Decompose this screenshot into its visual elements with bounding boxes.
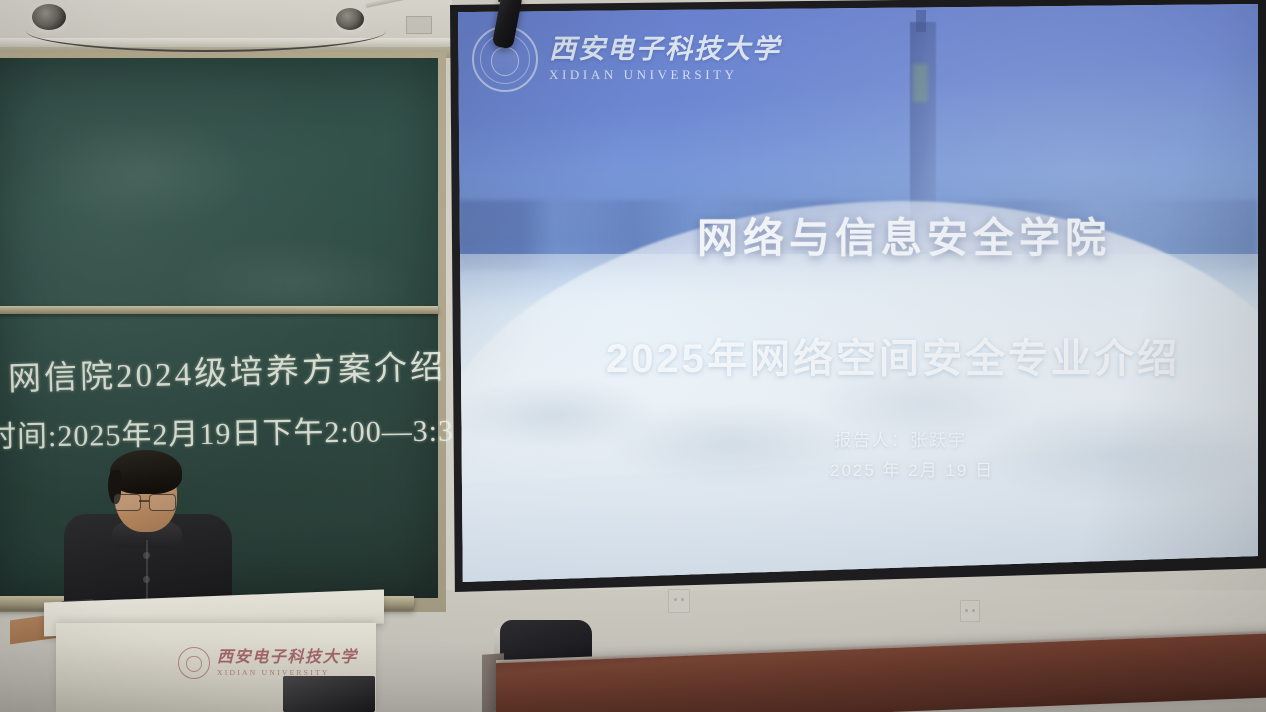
presenter-glasses-icon: [114, 494, 178, 509]
projection-screen[interactable]: 西安电子科技大学 XIDIAN UNIVERSITY 网络与信息安全学院 202…: [458, 4, 1258, 582]
podium-control-monitor[interactable]: [283, 676, 375, 712]
slide-brand-lockup: 西安电子科技大学 XIDIAN UNIVERSITY: [472, 26, 781, 92]
slide-subtitle: 2025年网络空间安全专业介绍: [606, 326, 1180, 384]
campus-tower-accent: [913, 64, 928, 102]
university-seal-icon: [178, 647, 210, 679]
wall-outlet: [960, 600, 980, 622]
presenter-button: [143, 576, 150, 583]
wall-outlet: [668, 589, 690, 613]
brand-name-en: XIDIAN UNIVERSITY: [549, 67, 781, 83]
presenter-button: [143, 552, 150, 559]
slide-title: 网络与信息安全学院: [697, 204, 1111, 264]
blackboard-text-line-2: 时间:2025年2月19日下午2:00—3:30: [0, 405, 470, 456]
campus-tower-top: [916, 10, 926, 32]
podium-brand-cn: 西安电子科技大学: [217, 649, 358, 667]
brand-name-cn: 西安电子科技大学: [549, 35, 781, 63]
slide-date: 2025 年 2月 19 日: [830, 456, 994, 481]
ceiling-access-plate: [406, 16, 432, 34]
lecture-hall-photo: 网信院2024级培养方案介绍 时间:2025年2月19日下午2:00—3:30 …: [0, 0, 1266, 712]
slide-presenter: 报告人：张跃宇: [834, 426, 967, 451]
podium-brand-lockup: 西安电子科技大学 XIDIAN UNIVERSITY: [178, 647, 358, 679]
blackboard-divider: [0, 306, 438, 314]
hanging-cable: [26, 10, 386, 52]
